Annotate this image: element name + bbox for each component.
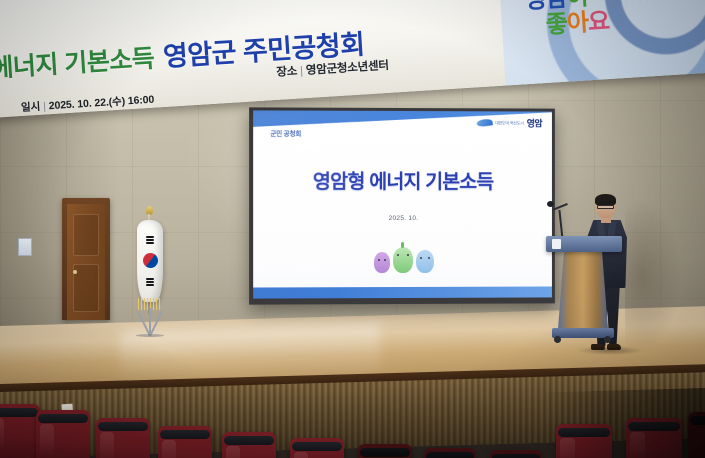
seat-headrest <box>224 436 274 445</box>
banner-place-value: 영암군청소년센터 <box>306 60 390 77</box>
mascot-eye <box>406 254 408 256</box>
mascot-body <box>373 252 389 273</box>
banner-place-separator: | <box>300 65 304 77</box>
seat-highlight <box>100 432 114 458</box>
seat <box>96 418 150 458</box>
slide-bottom-band <box>253 286 552 298</box>
stand-leg <box>149 310 163 336</box>
slide-surface: 군민 공청회 대한민국 혁신도시 영암 영암형 에너지 기본소득 2025. 1… <box>253 110 552 298</box>
seat <box>490 450 542 458</box>
seat-headrest <box>426 452 474 458</box>
mascot-eye <box>383 259 385 261</box>
mascot-green-icon <box>393 247 413 273</box>
seat-headrest <box>292 442 342 451</box>
projection-screen: 군민 공청회 대한민국 혁신도시 영암 영암형 에너지 기본소득 2025. 1… <box>249 107 555 304</box>
side-door <box>62 198 110 320</box>
wall-notice-sign <box>18 238 32 256</box>
speaker-cast-shadow <box>625 200 681 350</box>
banner-date-separator: | <box>43 100 46 112</box>
podium-emblem <box>552 239 561 249</box>
slide-mascot-group <box>253 247 552 274</box>
seat <box>36 410 90 458</box>
trigram-bar <box>146 239 154 241</box>
podium-caster <box>554 336 561 343</box>
trigram-bar <box>146 242 154 244</box>
slide-kicker-text: 군민 공청회 <box>270 128 301 138</box>
korean-flag <box>128 206 172 336</box>
speaker-glasses <box>597 205 614 209</box>
seat-headrest <box>160 430 210 439</box>
yeongam-logo: 대한민국 혁신도시 영암 <box>476 116 542 129</box>
podium-caster <box>604 336 611 343</box>
taeguk-circle <box>141 251 161 271</box>
mascot-eye <box>427 257 429 259</box>
mascot-eye <box>419 257 421 259</box>
seat <box>290 438 344 458</box>
podium-top-desk <box>546 236 622 252</box>
seat <box>0 404 40 458</box>
seat-headrest <box>360 448 410 457</box>
slogan-line-2: 좋아요 <box>545 1 610 40</box>
trigram-bar <box>146 284 154 286</box>
slide-date: 2025. 10. <box>253 215 552 222</box>
seat-headrest <box>98 422 148 431</box>
right-wall-shadow <box>545 388 705 458</box>
trigram-bar <box>146 281 154 283</box>
trigram-bar <box>146 236 154 238</box>
seat-highlight <box>0 418 4 452</box>
seat <box>424 448 476 458</box>
podium-body <box>558 251 608 329</box>
auditorium-photo: 군민 공청회 대한민국 혁신도시 영암 영암형 에너지 기본소득 2025. 1… <box>0 0 705 458</box>
seat <box>222 432 276 458</box>
banner-date-label: 일시 <box>21 101 41 114</box>
trigram-bar <box>146 278 154 280</box>
microphone-icon <box>547 201 554 207</box>
mascot-body <box>393 247 413 273</box>
podium <box>546 236 622 356</box>
seat-highlight <box>294 452 308 458</box>
banner-place-label: 장소 <box>276 66 297 79</box>
seat-headrest <box>38 414 88 423</box>
stand-base-shadow <box>136 334 164 337</box>
door-knob <box>73 270 77 274</box>
logo-wordmark: 영암 <box>527 116 542 129</box>
banner-title-green: 에너지 기본소득 <box>0 39 155 85</box>
door-leaf <box>67 204 105 320</box>
seat-highlight <box>40 424 54 458</box>
banner-headline: 에너지 기본소득 영암군 주민공청회 <box>0 11 550 85</box>
seat-highlight <box>226 446 240 458</box>
logo-subtitle: 대한민국 혁신도시 <box>495 120 523 126</box>
mascot-purple-icon <box>373 252 389 273</box>
seat-headrest <box>0 408 38 417</box>
seat <box>158 426 212 458</box>
mascot-eye <box>397 254 399 256</box>
slide-title: 영암형 에너지 기본소득 <box>253 165 552 194</box>
mascot-sprout <box>401 242 404 248</box>
flag-cloth-taegukgi <box>137 220 163 302</box>
seat <box>358 444 412 458</box>
mascot-body <box>415 250 433 273</box>
seat-highlight <box>162 440 176 458</box>
logo-swoosh-icon <box>476 118 493 127</box>
seat-headrest <box>492 454 540 458</box>
mascot-blue-icon <box>415 250 433 273</box>
flag-stand <box>134 306 166 336</box>
mascot-eye <box>377 259 379 261</box>
door-panel-upper <box>73 214 99 256</box>
